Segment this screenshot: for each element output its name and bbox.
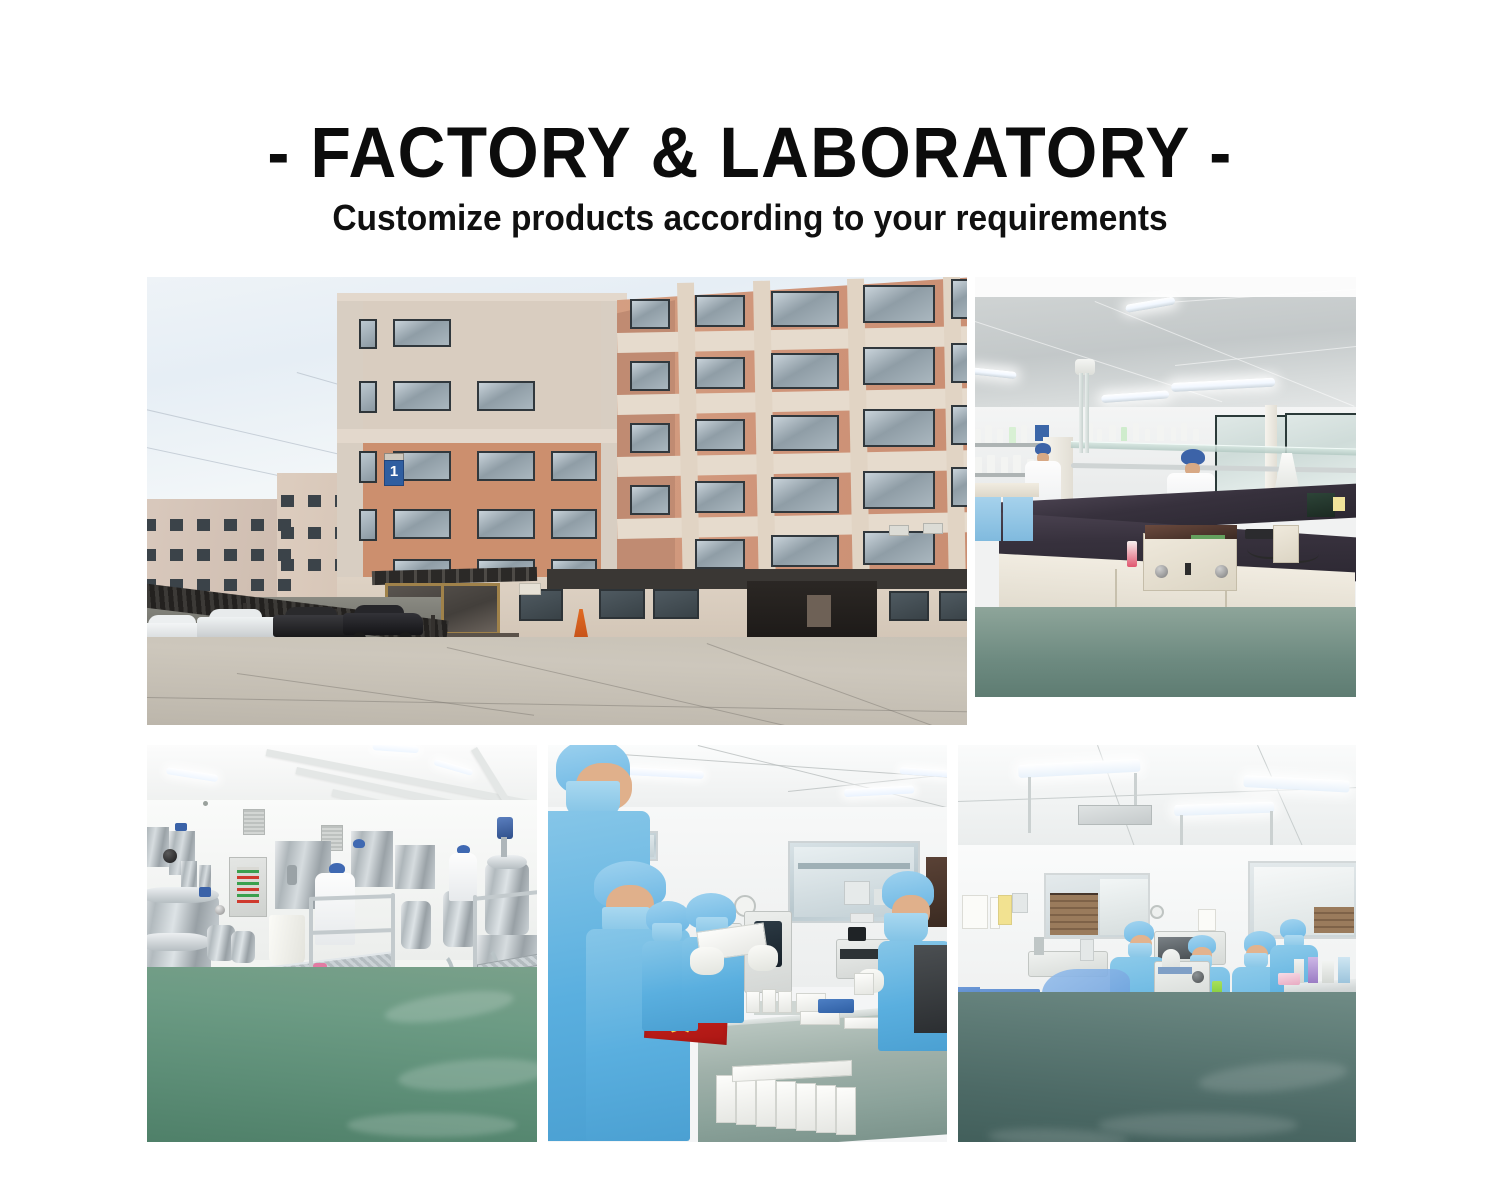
window <box>630 361 670 391</box>
facade-band <box>337 429 627 443</box>
product-carton <box>762 989 776 1013</box>
window <box>771 535 839 567</box>
bottle <box>1322 961 1334 983</box>
window <box>477 451 535 481</box>
machine-label <box>1158 967 1192 974</box>
gauge-dial <box>163 849 177 863</box>
worker-glove <box>748 945 778 971</box>
product-carton <box>778 991 792 1013</box>
blue-crate <box>818 999 854 1013</box>
machine-wheel <box>1192 971 1204 983</box>
ceiling-panels <box>975 297 1356 419</box>
wall-vent <box>243 809 265 835</box>
instrument-knob <box>1215 565 1228 578</box>
product-carton <box>756 1079 776 1127</box>
production-workshop-photo <box>147 745 537 1142</box>
ground-floor-window <box>889 591 929 621</box>
cabinet-door <box>975 497 1001 541</box>
small-equipment <box>1034 937 1044 955</box>
window <box>393 381 451 411</box>
window <box>551 509 597 539</box>
window <box>951 279 967 319</box>
reagent-bottle <box>1171 427 1176 441</box>
air-conditioner-unit <box>923 523 943 534</box>
window <box>695 481 745 513</box>
glass-column <box>1079 373 1083 453</box>
worker-cap <box>353 839 365 848</box>
product-carton <box>796 1083 816 1131</box>
wall-document <box>998 895 1012 925</box>
window <box>359 451 377 483</box>
passage-light-patch <box>807 595 831 627</box>
header: - FACTORY & LABORATORY - Customize produ… <box>0 0 1500 262</box>
factory-exterior-photo: 1 <box>147 277 967 725</box>
window <box>359 319 377 349</box>
light-hanger <box>1028 777 1031 833</box>
pressure-gauge <box>215 905 225 915</box>
building-number-label: 1 <box>385 464 403 479</box>
blue-valve <box>175 823 187 831</box>
background-window-row <box>147 549 293 561</box>
window <box>771 415 839 451</box>
glass-column <box>1085 373 1089 453</box>
building-number-sign: 1 <box>384 460 404 486</box>
reagent-bottle <box>975 429 981 443</box>
window <box>863 409 935 447</box>
reagent-bottle <box>1133 423 1139 441</box>
window <box>630 299 670 329</box>
assembly-filling-room-photo <box>958 745 1356 1142</box>
window <box>863 285 935 323</box>
small-equipment <box>1080 939 1094 961</box>
reagent-bottle <box>1109 425 1116 441</box>
reagent-bottle <box>997 429 1003 443</box>
product-item <box>854 973 874 995</box>
equipment-behind-glass <box>844 881 870 905</box>
window <box>477 381 535 411</box>
platform-railing-post <box>391 893 395 973</box>
window <box>393 319 451 347</box>
duct-behind-glass <box>798 863 910 869</box>
window <box>393 509 451 539</box>
machine-arm <box>848 927 866 941</box>
mixer-motor <box>497 817 513 839</box>
instrument-display <box>1185 563 1191 575</box>
reagent-bottle <box>975 457 982 473</box>
ground-floor-window <box>653 589 699 619</box>
bench-instrument <box>1273 525 1299 563</box>
wall-document <box>962 895 988 929</box>
window <box>771 477 839 513</box>
wall-control-box <box>1012 893 1028 913</box>
car-body <box>343 613 423 635</box>
reagent-bottle <box>1009 427 1016 443</box>
control-panel-indicators <box>237 867 259 903</box>
reagent-bottle <box>1121 427 1127 441</box>
photo-gallery: 1 <box>147 277 1356 1142</box>
worker-coat <box>449 853 477 901</box>
window <box>359 509 377 541</box>
window <box>695 295 745 327</box>
small-tank <box>231 931 255 963</box>
light-hanger <box>1270 811 1273 845</box>
wall-panel <box>519 583 541 595</box>
stainless-cabinet <box>395 845 435 889</box>
product-carton <box>776 1081 796 1129</box>
reagent-bottle <box>1181 423 1187 441</box>
page-title: - FACTORY & LABORATORY - <box>53 118 1448 189</box>
wall-clock <box>1150 905 1164 919</box>
window <box>771 353 839 389</box>
reagent-bottle <box>1097 429 1102 441</box>
stacked-cartons <box>1050 895 1098 935</box>
wall-shelf <box>975 443 1043 447</box>
stacked-cartons <box>1314 907 1354 933</box>
reagent-bottle <box>1193 429 1199 441</box>
product-carton <box>816 1085 836 1133</box>
window <box>863 471 935 509</box>
product-carton <box>746 991 760 1013</box>
white-bucket <box>269 915 305 965</box>
reagent-bottle <box>1013 455 1021 473</box>
bottle <box>1338 957 1350 983</box>
car-body <box>197 617 283 639</box>
railing-post <box>473 895 477 975</box>
pink-tray <box>1278 973 1300 985</box>
wall-fixture <box>203 801 208 806</box>
worker-glove <box>690 947 724 975</box>
window <box>695 357 745 389</box>
reagent-bottle <box>985 425 992 443</box>
wall-hook <box>287 865 297 885</box>
ceiling-ac-panel <box>1078 805 1152 825</box>
air-conditioner-unit <box>889 525 909 536</box>
floor-reflection <box>1098 1113 1298 1137</box>
window <box>863 531 935 565</box>
window <box>695 539 745 569</box>
worker-sleeve-dark <box>914 945 947 1033</box>
wall-notice <box>1198 909 1216 931</box>
instrument-knob <box>1155 565 1168 578</box>
blue-valve <box>199 887 211 897</box>
page-subtitle: Customize products according to your req… <box>53 200 1448 236</box>
spray-bottle <box>1127 541 1137 567</box>
window <box>695 419 745 451</box>
vessel-lid <box>147 933 211 951</box>
product-carton <box>736 1077 756 1125</box>
lab-floor <box>975 607 1356 697</box>
window <box>951 343 967 383</box>
window <box>863 347 935 385</box>
cabinet-door <box>1003 497 1033 541</box>
ceiling-edge <box>975 277 1356 299</box>
reagent-bottle <box>1157 425 1164 441</box>
ground-floor-window <box>599 589 645 619</box>
mixer-shaft <box>501 837 507 857</box>
dark-case <box>1307 493 1335 517</box>
light-hanger <box>1180 815 1183 847</box>
instruction-card <box>850 913 874 923</box>
window <box>951 405 967 445</box>
tank-lid <box>487 855 527 869</box>
floor-reflection <box>347 1113 517 1137</box>
reagent-bottle <box>987 455 995 473</box>
reagent-bottle <box>1021 425 1027 443</box>
concrete-courtyard <box>147 637 967 725</box>
window <box>477 509 535 539</box>
window <box>630 423 670 453</box>
background-window-row <box>147 519 293 531</box>
machine-funnel <box>1162 949 1180 967</box>
window <box>630 485 670 515</box>
reagent-bottle <box>1001 457 1008 473</box>
lab-instrument <box>1143 533 1237 591</box>
lab-cabinet <box>975 483 1039 497</box>
parked-car <box>343 605 423 641</box>
window <box>771 291 839 327</box>
packaging-line-photo: 质 检 员 <box>548 745 947 1142</box>
product-carton <box>716 1075 736 1123</box>
window <box>951 467 967 507</box>
ground-floor-window <box>939 591 967 621</box>
label-card <box>1333 497 1345 511</box>
laboratory-photo <box>975 277 1356 697</box>
instrument-label <box>1191 535 1225 539</box>
bottle <box>1308 957 1318 983</box>
storage-tank <box>401 901 431 949</box>
reagent-bottle <box>1145 429 1150 441</box>
product-carton <box>836 1087 856 1135</box>
window <box>551 451 597 481</box>
product-carton <box>800 1011 840 1025</box>
window <box>359 381 377 413</box>
